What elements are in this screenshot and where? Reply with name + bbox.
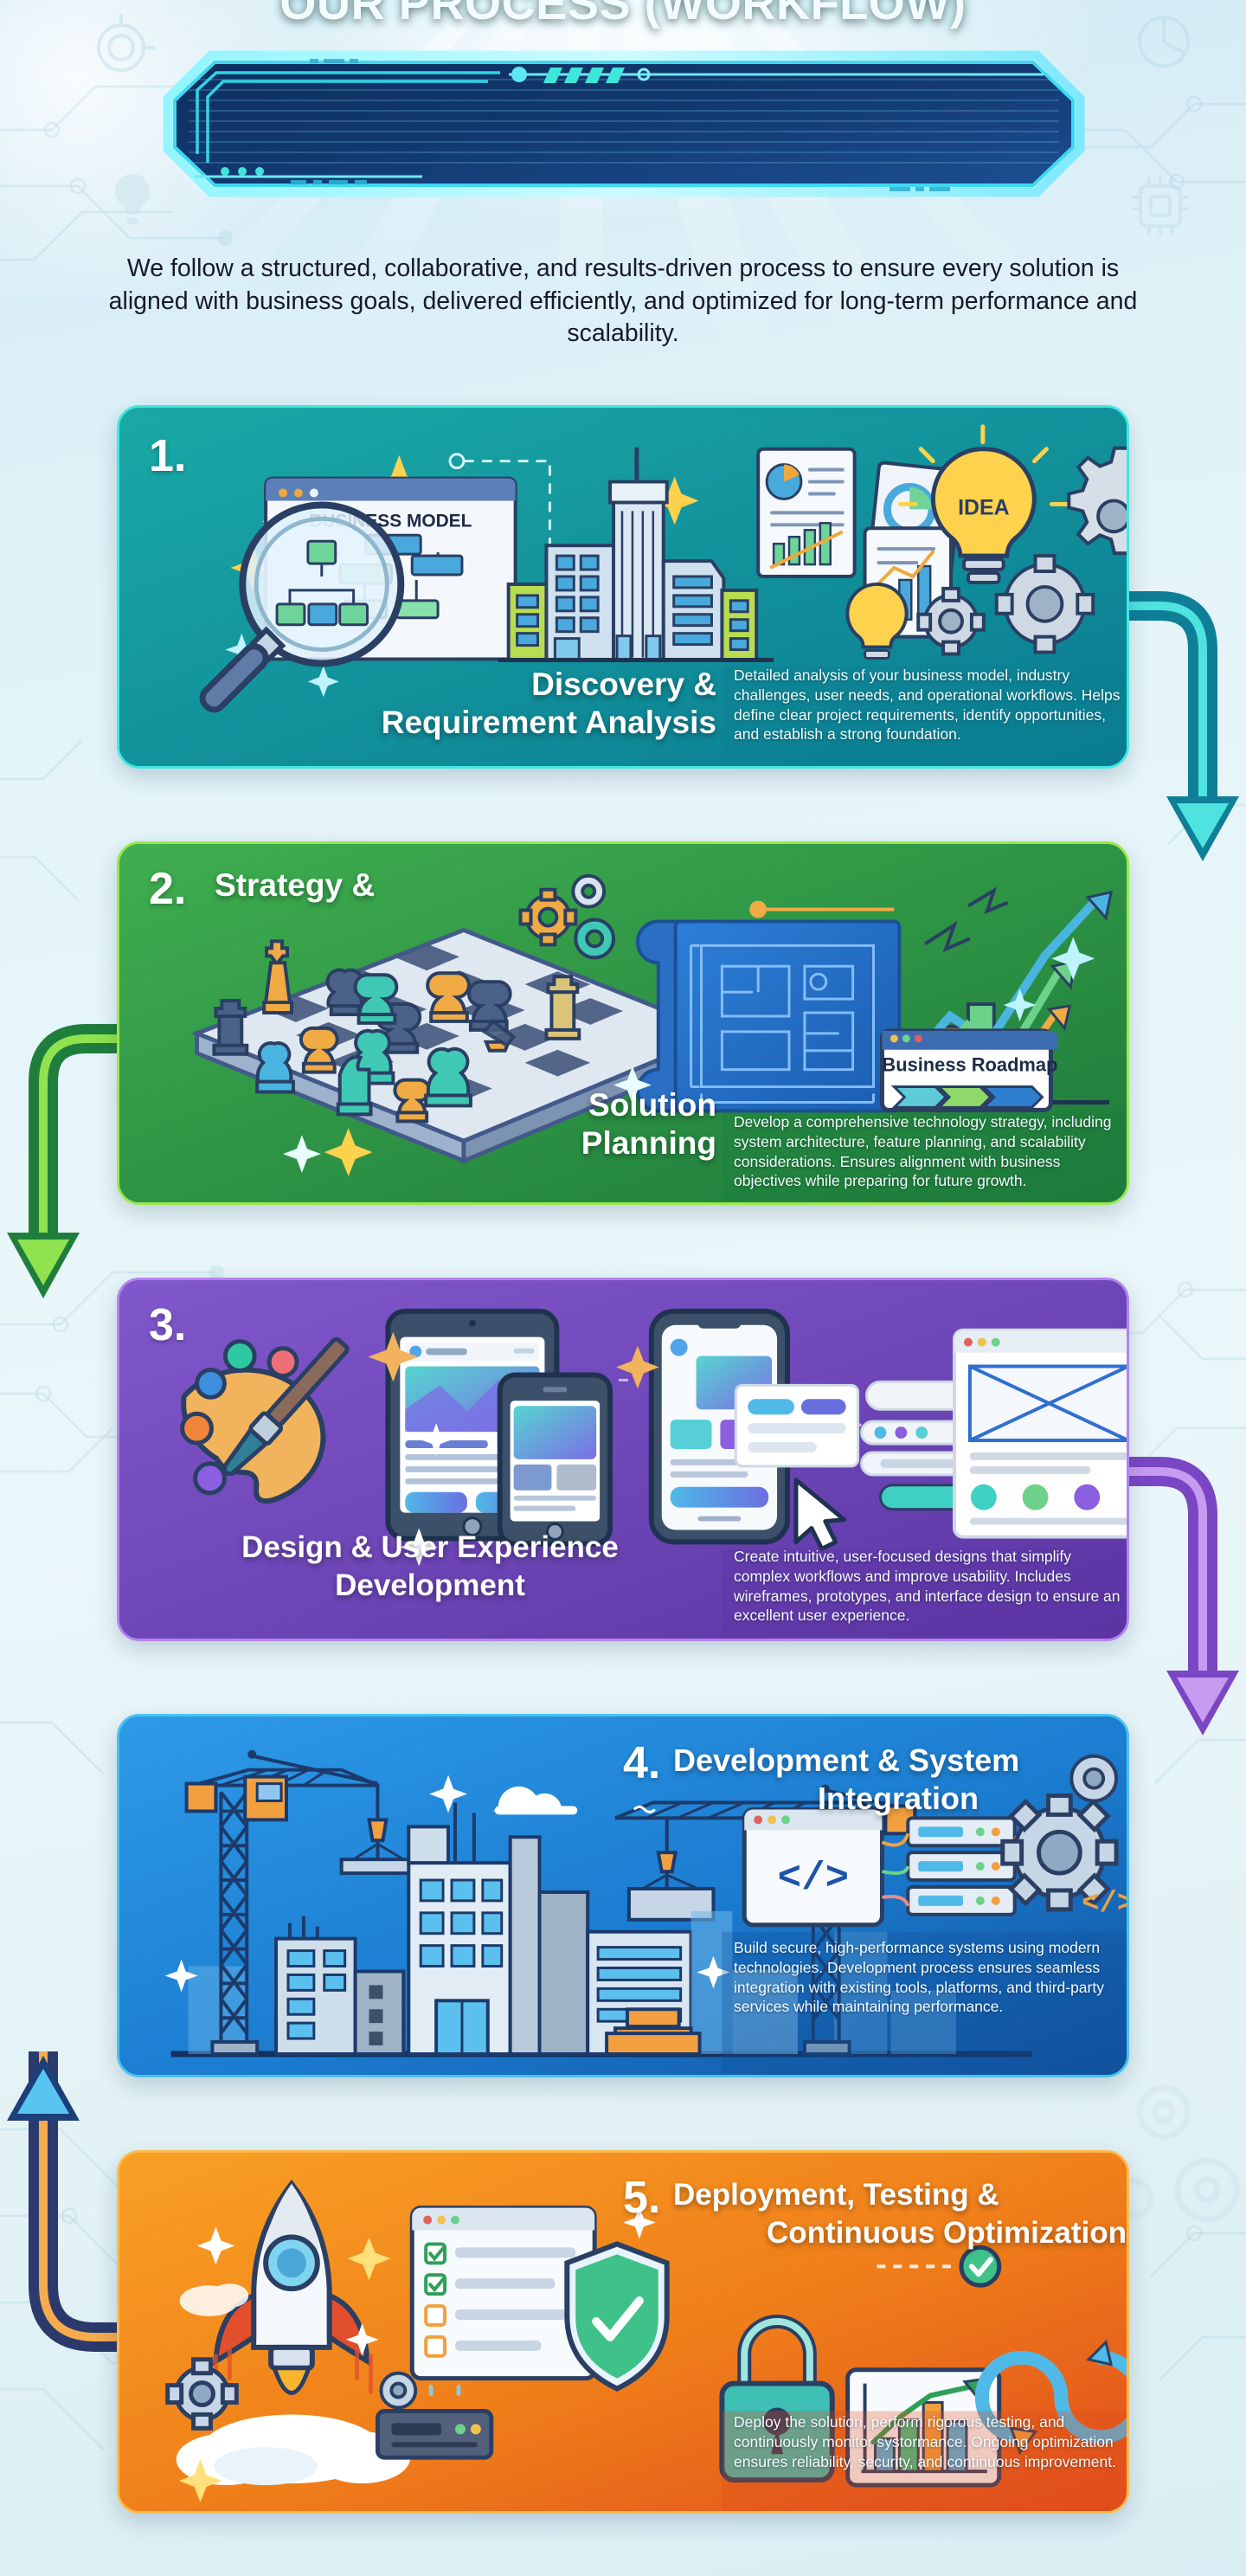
business-roadmap-label: Business Roadmap	[882, 1054, 1057, 1076]
step-card-2[interactable]: Business Roadmap 2. Strategy & Solution …	[117, 841, 1129, 1205]
ui-component-card	[735, 1385, 857, 1466]
server-box-icon	[377, 2411, 491, 2457]
check-badge-icon	[961, 2247, 999, 2285]
step-4-number: 4.	[623, 1741, 660, 1786]
step-3-number: 3.	[149, 1303, 186, 1348]
step-card-3[interactable]: 3. Design & User Experience Development …	[117, 1278, 1129, 1641]
step-2-description: Develop a comprehensive technology strat…	[734, 1112, 1123, 1191]
gear-icon	[381, 2373, 415, 2408]
step-3-heading-line2: Development	[140, 1569, 720, 1602]
step-1-number: 1.	[149, 434, 186, 479]
code-glyph: </>	[778, 1856, 849, 1901]
step-3-heading-line1: Design & User Experience	[140, 1531, 720, 1564]
step-2-number: 2.	[149, 866, 186, 911]
server-rack-icon	[908, 1818, 1014, 1914]
step-5-heading-line2: Continuous Optimization	[659, 2217, 1127, 2250]
step-5-description: Deploy the solution, perform rigorous te…	[734, 2412, 1127, 2471]
step-5-heading-line1: Deployment, Testing &	[673, 2179, 1123, 2212]
code-glyph-secondary: </>	[1082, 1888, 1127, 1921]
step-5-number: 5.	[623, 2175, 660, 2220]
step-2-heading-line1: Strategy &	[215, 868, 375, 903]
step-2-heading-line2: Solution	[405, 1088, 716, 1123]
step-4-heading-line1: Development & System	[673, 1744, 1123, 1778]
step-1-heading-line2: Requirement Analysis	[232, 705, 716, 740]
phone-mockup-small	[500, 1375, 610, 1543]
report-document-icon	[758, 449, 854, 576]
step-4-description: Build secure, high-performance systems u…	[734, 1938, 1129, 2017]
code-window-mockup: </>	[744, 1809, 882, 1924]
gear-icon	[575, 920, 613, 958]
step-3-description: Create intuitive, user-focused designs t…	[734, 1547, 1123, 1626]
business-roadmap-card: Business Roadmap	[882, 1031, 1057, 1111]
step-card-1[interactable]: BUSINESS MODEL	[117, 405, 1129, 769]
blueprint-illustration	[638, 901, 899, 1111]
step-1-heading-line1: Discovery &	[258, 667, 716, 702]
step-card-4[interactable]: </>	[117, 1714, 1129, 2077]
step-4-heading-line2: Integration	[673, 1782, 1123, 1816]
step-card-5[interactable]: 5. Deployment, Testing & Continuous Opti…	[117, 2150, 1129, 2514]
step-2-heading-line3: Planning	[405, 1126, 716, 1161]
gear-icon	[573, 876, 604, 907]
idea-label: IDEA	[958, 495, 1009, 519]
wireframe-browser-mockup	[954, 1330, 1127, 1537]
step-1-description: Detailed analysis of your business model…	[734, 666, 1123, 744]
